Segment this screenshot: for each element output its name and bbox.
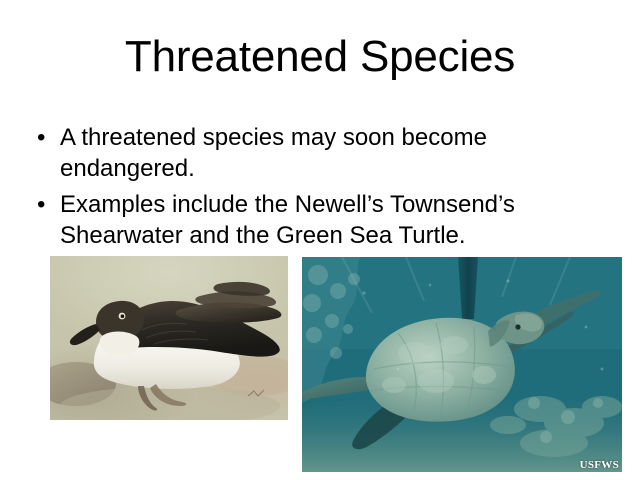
list-item: • A threatened species may soon become e… bbox=[32, 122, 592, 184]
list-item: • Examples include the Newell’s Townsend… bbox=[32, 189, 592, 251]
image-credit-usfws: USFWS bbox=[580, 459, 619, 472]
green-sea-turtle-illustration bbox=[302, 257, 622, 472]
slide-canvas: Threatened Species • A threatened specie… bbox=[0, 0, 640, 480]
shearwater-illustration bbox=[50, 256, 288, 420]
green-sea-turtle-image: USFWS bbox=[302, 257, 622, 472]
bullet-text: A threatened species may soon become end… bbox=[60, 122, 530, 184]
bullet-text: Examples include the Newell’s Townsend’s… bbox=[60, 189, 530, 251]
shearwater-image: Painting by Sheryl Ives Boynton bbox=[50, 256, 288, 420]
bullet-list: • A threatened species may soon become e… bbox=[32, 122, 592, 256]
bullet-dot-icon: • bbox=[37, 189, 45, 220]
page-title: Threatened Species bbox=[0, 32, 640, 82]
bullet-dot-icon: • bbox=[37, 122, 45, 153]
